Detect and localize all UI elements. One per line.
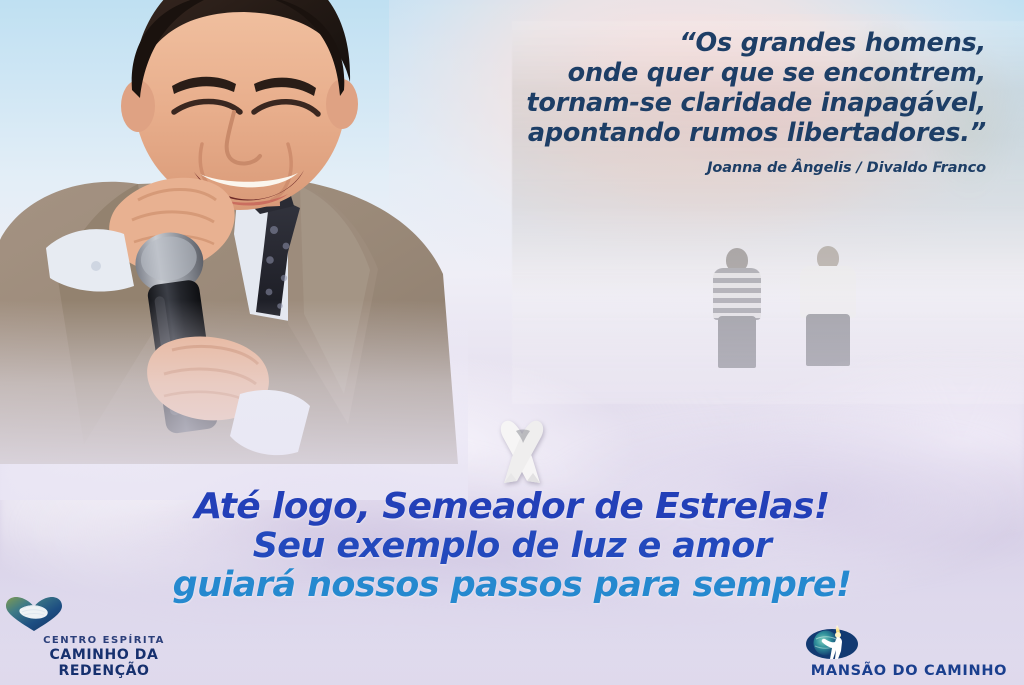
quote-line-2: onde quer que se encontrem, — [446, 58, 986, 88]
message-line-2: Seu exemplo de luz e amor — [0, 527, 1024, 565]
logo-left-line-1: CENTRO ESPÍRITA — [4, 635, 204, 647]
heart-hands-icon — [4, 596, 204, 632]
logo-mansao-do-caminho: MANSÃO DO CAMINHO — [804, 622, 1014, 679]
mourning-ribbon-icon — [487, 413, 557, 491]
portrait-photo — [0, 0, 458, 464]
quote-block: “Os grandes homens, onde quer que se enc… — [446, 28, 986, 176]
quote-line-3: tornam-se claridade inapagável, — [446, 88, 986, 118]
figure-torso — [800, 266, 856, 318]
quote-line-4: apontando rumos libertadores.” — [446, 118, 986, 148]
logo-left-line-2: CAMINHO DA REDENÇÃO — [4, 647, 204, 679]
globe-figure-icon — [804, 622, 1014, 660]
logo-right-label: MANSÃO DO CAMINHO — [804, 663, 1014, 679]
figure-torso — [713, 268, 761, 320]
logo-centro-espirita: CENTRO ESPÍRITA CAMINHO DA REDENÇÃO — [4, 596, 204, 679]
quote-line-1: “Os grandes homens, — [446, 28, 986, 58]
message-line-1: Até logo, Semeador de Estrelas! — [0, 487, 1024, 527]
quote-attribution: Joanna de Ângelis / Divaldo Franco — [446, 160, 986, 176]
tribute-message: Até logo, Semeador de Estrelas! Seu exem… — [0, 487, 1024, 605]
memorial-poster: “Os grandes homens, onde quer que se enc… — [0, 0, 1024, 685]
